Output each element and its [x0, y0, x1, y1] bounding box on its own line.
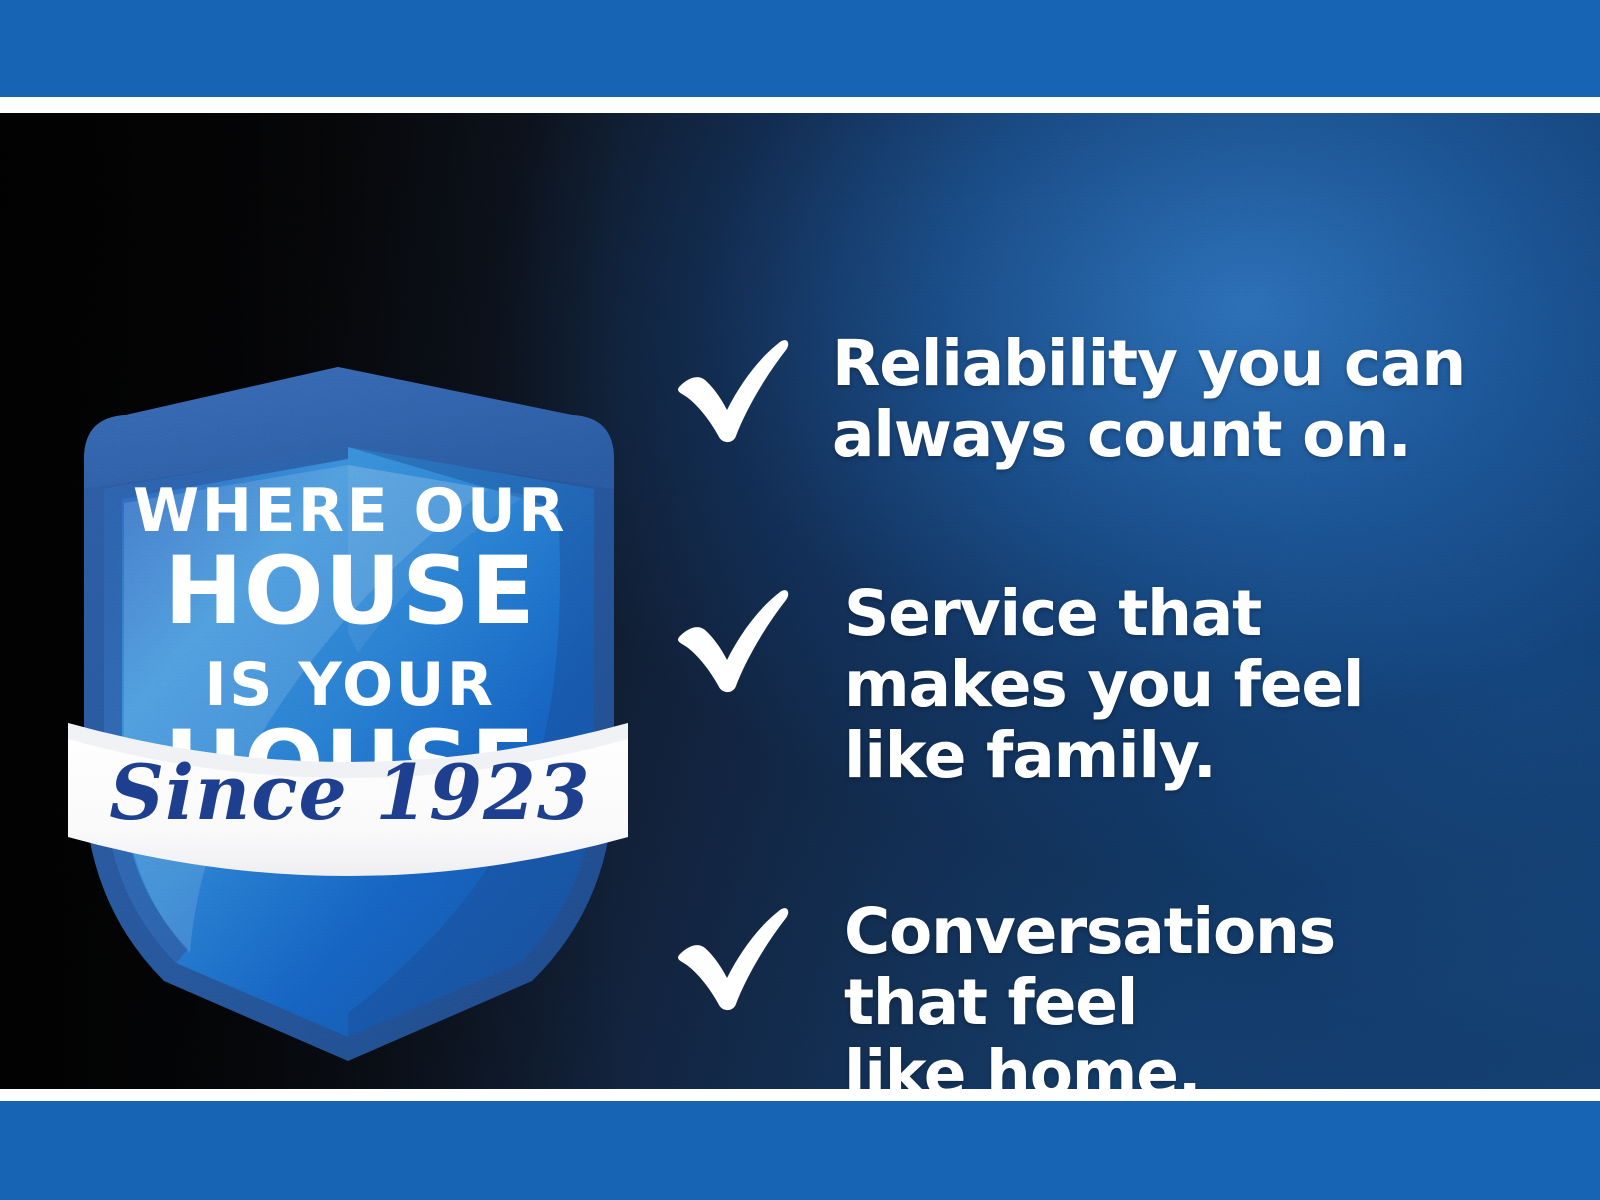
benefit-text: Reliability you can always count on.: [832, 328, 1465, 470]
benefit-item: Reliability you can always count on.: [674, 328, 1465, 470]
benefit-list: Reliability you can always count on. Ser…: [660, 226, 1560, 1089]
benefit-item: Service that makes you feel like family.: [674, 578, 1363, 792]
banner-text: Since 1923: [109, 748, 591, 837]
bottom-brand-bar: [0, 1101, 1600, 1200]
benefit-text: Service that makes you feel like family.: [844, 578, 1363, 792]
emblem-line-3: IS YOUR: [204, 650, 495, 720]
top-brand-bar: [0, 0, 1600, 97]
promo-card: WHERE OUR HOUSE IS YOUR HOUSE Since 1923: [0, 0, 1600, 1200]
benefit-item: Conversations that feel like home.: [674, 896, 1335, 1089]
emblem-line-1: WHERE OUR: [133, 476, 567, 546]
emblem-line-2: HOUSE: [164, 537, 536, 646]
shield-emblem: WHERE OUR HOUSE IS YOUR HOUSE Since 1923: [58, 253, 638, 1083]
checkmark-icon: [674, 902, 792, 1014]
checkmark-icon: [674, 334, 792, 446]
benefit-text: Conversations that feel like home.: [844, 896, 1335, 1089]
checkmark-icon: [674, 584, 792, 696]
main-panel: WHERE OUR HOUSE IS YOUR HOUSE Since 1923: [0, 113, 1600, 1089]
